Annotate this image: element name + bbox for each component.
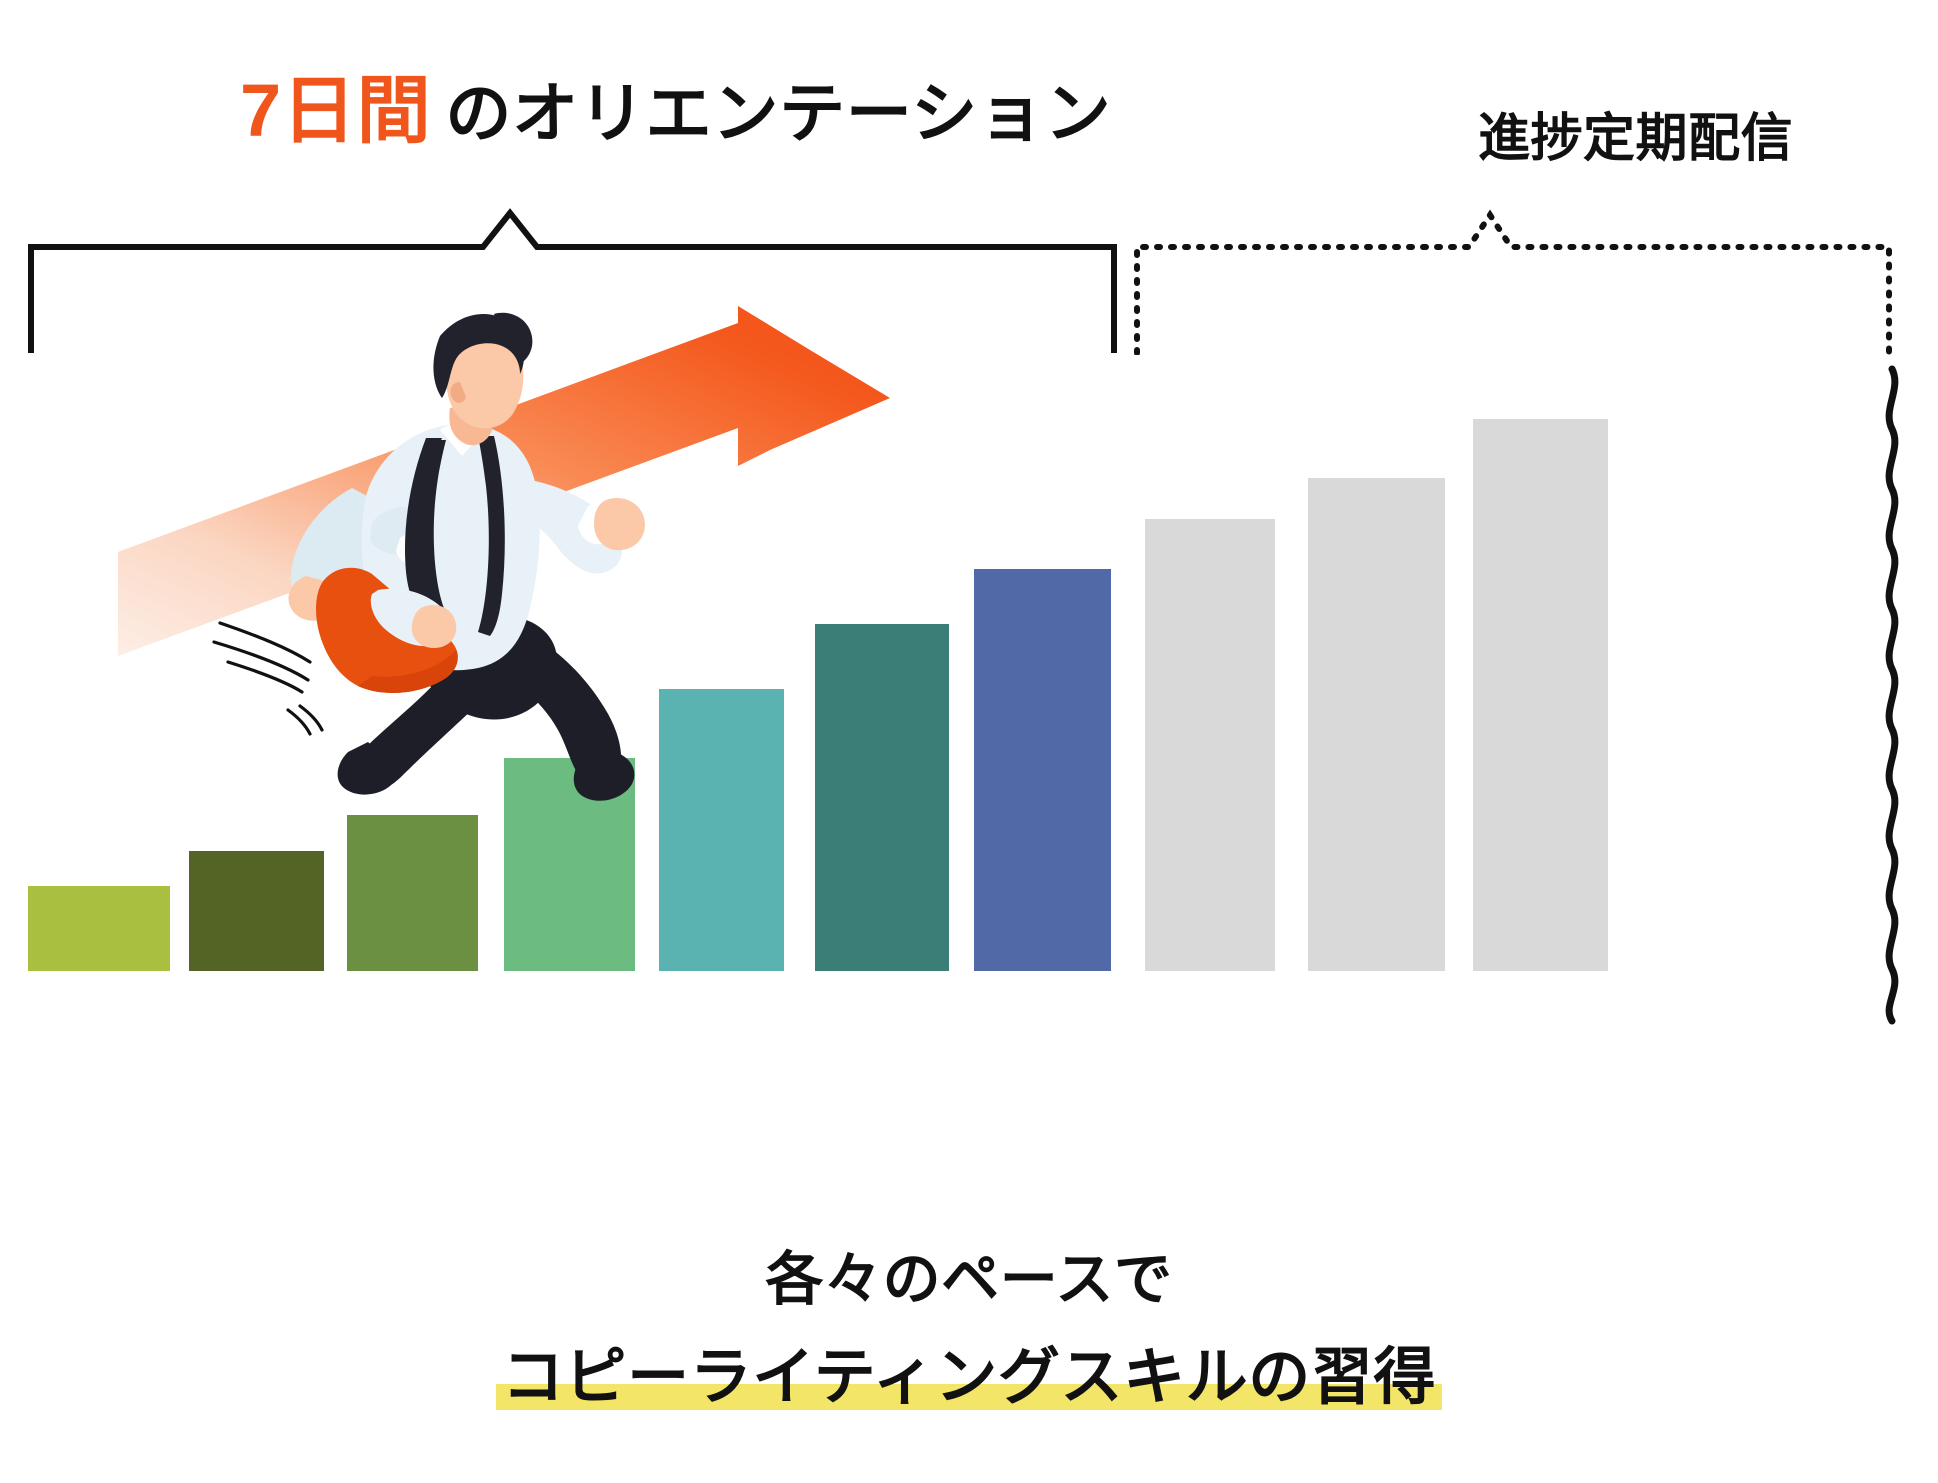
caption-line-2-wrap: コピーライティングスキルの習得 [0,1326,1938,1416]
speed-lines [214,623,322,734]
bar-7 [974,569,1111,971]
title-accent: 7日間 [240,69,431,152]
caption-line-2-text: コピーライティングスキルの習得 [502,1343,1436,1412]
bar-2 [189,851,324,971]
bracket-progress-delivery [1134,205,1894,355]
bar-8 [1145,519,1275,971]
page-title: 7日間のオリエンテーション [240,70,1111,151]
title-rest: のオリエンテーション [445,76,1111,150]
progress-delivery-title: 進捗定期配信 [1478,96,1793,171]
caption-line-2: コピーライティングスキルの習得 [496,1326,1442,1416]
infographic-canvas: 7日間のオリエンテーション 進捗定期配信 各々のペースで コピーライティングスキ… [0,0,1938,1483]
bar-1 [28,886,170,971]
illustration-running-businessman [110,290,940,810]
caption-line-1: 各々のペースで [0,1232,1938,1316]
bar-3 [347,815,478,971]
wavy-divider [1868,365,1916,1030]
bar-9 [1308,478,1445,971]
bar-10 [1473,419,1608,971]
